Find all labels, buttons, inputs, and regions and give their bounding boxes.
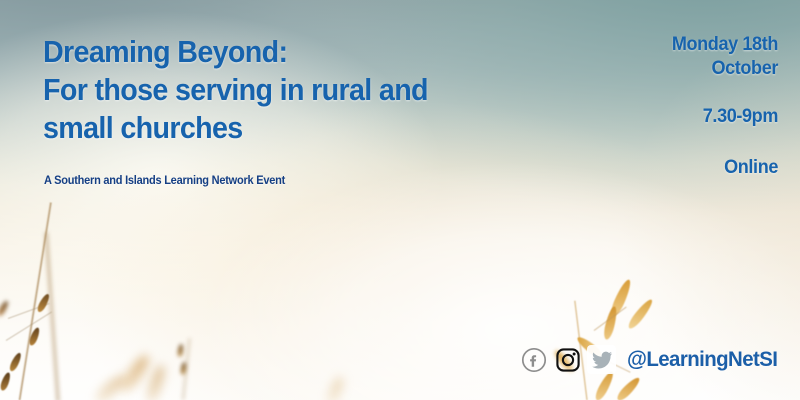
event-details: Monday 18th October 7.30-9pm Online bbox=[478, 33, 778, 180]
event-subtitle: A Southern and Islands Learning Network … bbox=[44, 174, 285, 187]
instagram-icon[interactable] bbox=[553, 345, 582, 374]
event-banner: Dreaming Beyond: For those serving in ru… bbox=[0, 0, 800, 400]
event-location: Online bbox=[493, 156, 778, 180]
page-title: Dreaming Beyond: For those serving in ru… bbox=[43, 33, 551, 147]
facebook-icon[interactable] bbox=[519, 345, 548, 374]
event-time: 7.30-9pm bbox=[493, 105, 778, 129]
social-links: @LearningNetSI bbox=[519, 345, 785, 374]
social-handle[interactable]: @LearningNetSI bbox=[627, 347, 777, 372]
event-date: Monday 18th October bbox=[493, 33, 778, 81]
twitter-icon[interactable] bbox=[587, 345, 616, 374]
